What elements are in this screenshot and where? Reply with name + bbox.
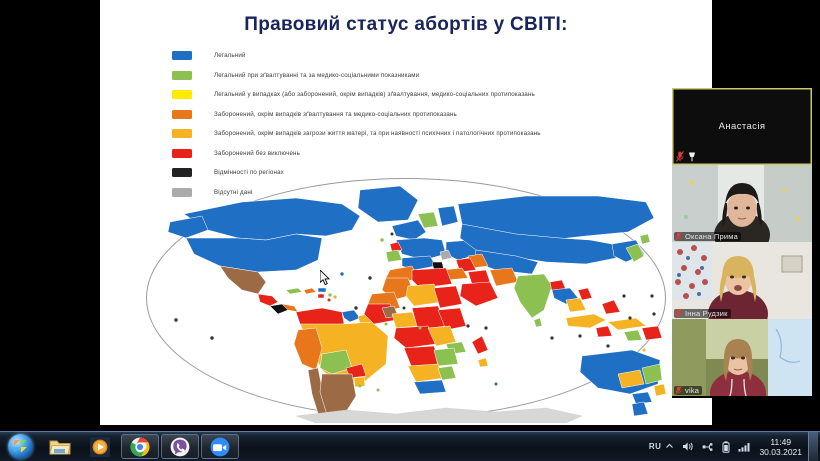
mic-muted-icon <box>675 232 682 241</box>
pin-icon <box>688 152 696 162</box>
legend-swatch <box>172 149 192 158</box>
participant-name-badge: Інна Рудзик <box>674 309 731 318</box>
taskbar-button-file-explorer[interactable] <box>41 434 79 459</box>
media-player-icon <box>90 437 110 457</box>
screen: Правовий статус абортів у СВІТІ: Легальн… <box>0 0 820 461</box>
legend-swatch <box>172 110 192 119</box>
taskbar-button-viber[interactable] <box>161 434 199 459</box>
taskbar-button-zoom[interactable] <box>201 434 239 459</box>
lan-icon <box>702 442 714 452</box>
network-icon[interactable] <box>702 442 714 452</box>
folder-icon <box>49 437 71 456</box>
legend-item-label: Заборонений, окрім випадків загрози житт… <box>214 130 541 137</box>
battery-glyph <box>722 441 730 453</box>
clock-time: 11:49 <box>759 437 802 447</box>
chevron-up-icon <box>665 442 674 451</box>
chrome-icon <box>130 437 150 457</box>
signal-strength-icon[interactable] <box>738 442 751 452</box>
participant-name: vika <box>685 386 699 395</box>
show-desktop-button[interactable] <box>808 432 818 461</box>
start-button[interactable] <box>0 433 40 460</box>
language-indicator[interactable]: RU <box>649 442 662 451</box>
participant-tile-anastasiia[interactable]: Анастасія <box>672 88 812 165</box>
legend-item-label: Заборонений, окрім випадків зґвалтування… <box>214 111 457 118</box>
viber-icon <box>170 437 190 457</box>
legend-swatch <box>172 71 192 80</box>
participant-tile-vika[interactable]: vika <box>672 319 812 396</box>
legend-item-legal-rape-medical: Легальний при зґвалтуванні та за медико-… <box>172 67 702 84</box>
volume-icon[interactable] <box>682 441 694 452</box>
battery-icon[interactable] <box>722 441 730 453</box>
legend-swatch <box>172 51 192 60</box>
windows-logo-icon <box>8 434 33 459</box>
clock-date: 30.03.2021 <box>759 447 802 457</box>
participant-video-feed <box>672 319 812 396</box>
legend-swatch <box>172 168 192 177</box>
taskbar-button-google-chrome[interactable] <box>121 434 159 459</box>
shared-presentation-slide: Правовий статус абортів у СВІТІ: Легальн… <box>100 0 712 425</box>
legend-item-banned-except-rape: Заборонений, окрім випадків зґвалтування… <box>172 106 702 123</box>
system-tray[interactable]: RU <box>643 432 820 461</box>
mouse-cursor <box>320 270 331 286</box>
zoom-icon <box>210 437 230 457</box>
legend-swatch <box>172 129 192 138</box>
legend-item-label: Заборонений без виключень <box>214 150 300 157</box>
legend-item-banned-except-life: Заборонений, окрім випадків загрози житт… <box>172 125 702 142</box>
tile-status-icons <box>676 151 696 162</box>
show-hidden-icons-button[interactable] <box>665 442 674 451</box>
video-participant-panel[interactable]: Анастасія <box>672 88 812 398</box>
legend-item-banned-no-exception: Заборонений без виключень <box>172 145 702 162</box>
world-map-svg <box>146 178 666 423</box>
legend-item-label: Легальний при зґвалтуванні та за медико-… <box>214 72 419 79</box>
legend-swatch <box>172 90 192 99</box>
mic-muted-icon <box>675 309 682 318</box>
legend-item-label: Легальний <box>214 52 246 59</box>
legend-item-label: Легальний у випадках (або заборонений, о… <box>214 91 535 98</box>
participant-video-feed <box>672 165 812 242</box>
mic-muted-icon <box>676 151 684 162</box>
participant-name-badge: vika <box>674 386 702 395</box>
mic-muted-icon <box>675 386 682 395</box>
participant-tile-inna-rudzyk[interactable]: Інна Рудзик <box>672 242 812 319</box>
clock[interactable]: 11:49 30.03.2021 <box>759 437 802 457</box>
participant-name-badge: Оксана Прима <box>674 232 741 241</box>
taskbar-button-media-player[interactable] <box>81 434 119 459</box>
taskbar[interactable]: RU <box>0 431 820 461</box>
world-map <box>146 178 666 423</box>
bars-icon <box>738 442 751 452</box>
speaker-icon <box>682 441 694 452</box>
participant-name: Оксана Прима <box>685 232 738 241</box>
legend-item-legal-cases: Легальний у випадках (або заборонений, о… <box>172 86 702 103</box>
participant-video-feed <box>672 242 812 319</box>
participant-name: Інна Рудзик <box>685 309 728 318</box>
page-title: Правовий статус абортів у СВІТІ: <box>100 14 712 36</box>
legend-item-legal: Легальний <box>172 47 702 64</box>
legend-item-label: Відмінності по регіонах <box>214 169 284 176</box>
participant-tile-oksana-pryma[interactable]: Оксана Прима <box>672 165 812 242</box>
